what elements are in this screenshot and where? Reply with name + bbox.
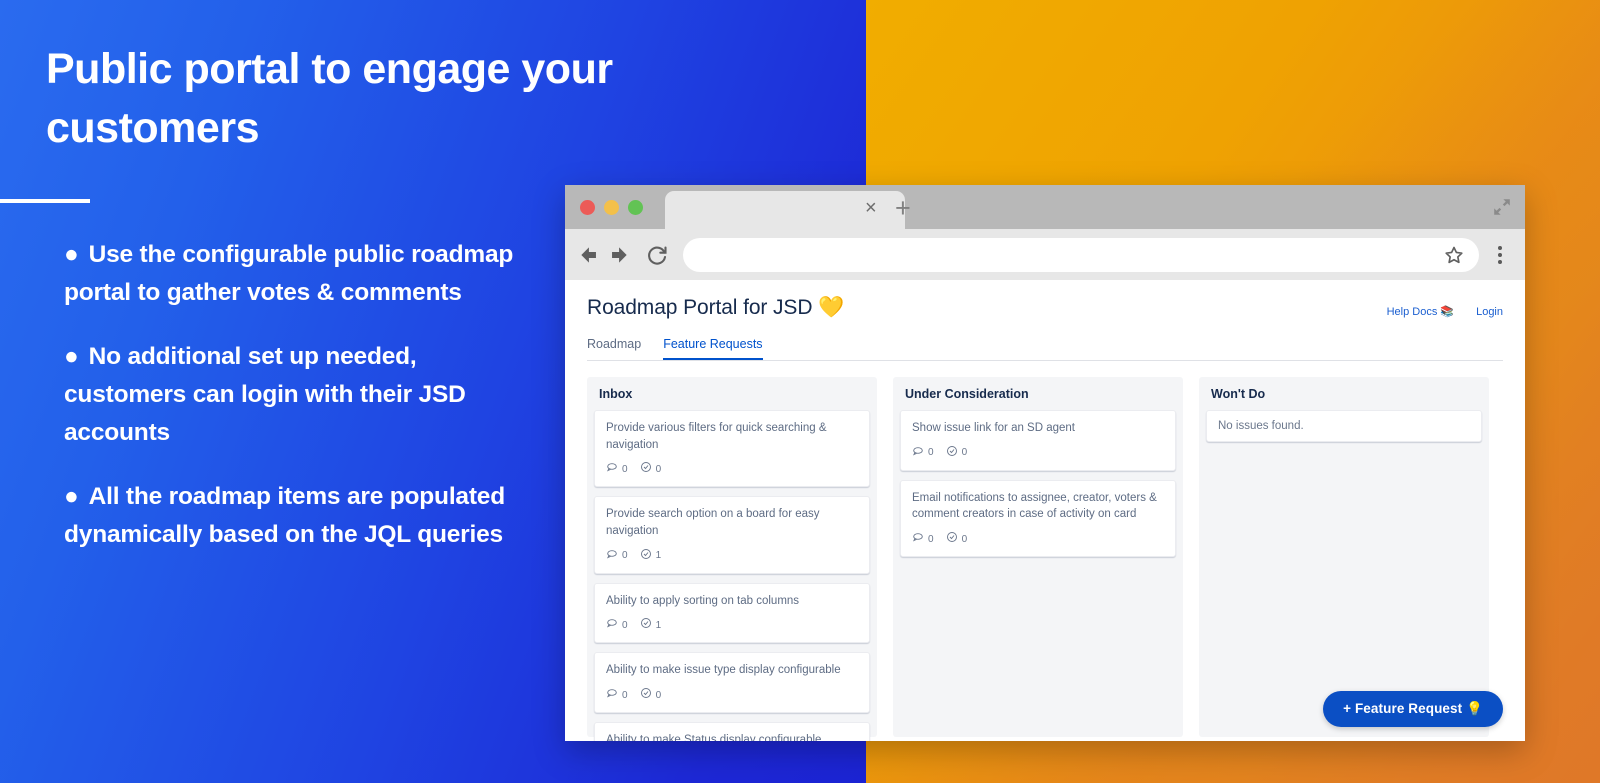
comment-icon bbox=[606, 616, 618, 634]
comment-count[interactable]: 0 bbox=[606, 460, 628, 478]
comment-count-value: 0 bbox=[622, 550, 628, 561]
card-meta: 0 1 bbox=[606, 616, 858, 634]
window-controls[interactable] bbox=[565, 200, 643, 215]
comment-icon bbox=[606, 686, 618, 704]
vote-check-icon bbox=[640, 460, 652, 478]
card-meta: 0 1 bbox=[606, 547, 858, 565]
roadmap-portal-app: Roadmap Portal for JSD 💛 Help Docs 📚 Log… bbox=[565, 280, 1525, 741]
vote-check-icon bbox=[946, 530, 958, 548]
minimize-window-icon[interactable] bbox=[604, 200, 619, 215]
vote-count[interactable]: 1 bbox=[640, 616, 662, 634]
bullet-text: No additional set up needed, customers c… bbox=[64, 343, 466, 446]
address-bar[interactable] bbox=[683, 238, 1479, 272]
vote-count[interactable]: 0 bbox=[640, 686, 662, 704]
add-feature-request-button[interactable]: + Feature Request 💡 bbox=[1323, 691, 1503, 727]
comment-count-value: 0 bbox=[622, 690, 628, 701]
bullet-text: Use the configurable public roadmap port… bbox=[64, 241, 513, 306]
card[interactable]: Email notifications to assignee, creator… bbox=[900, 480, 1176, 557]
vote-count[interactable]: 1 bbox=[640, 547, 662, 565]
slide-canvas: Public portal to engage your customers ●… bbox=[0, 0, 1600, 783]
app-header-actions: Help Docs 📚 Login bbox=[1387, 296, 1503, 318]
close-tab-icon[interactable]: × bbox=[865, 198, 877, 218]
tab-feature-requests[interactable]: Feature Requests bbox=[663, 337, 762, 360]
card-title: Ability to make issue type display confi… bbox=[606, 662, 858, 679]
comment-count[interactable]: 0 bbox=[606, 547, 628, 565]
bullet-dot-icon: ● bbox=[64, 241, 79, 268]
comment-icon bbox=[606, 460, 618, 478]
browser-menu-icon[interactable] bbox=[1487, 246, 1513, 264]
comment-icon bbox=[912, 530, 924, 548]
column-title: Inbox bbox=[594, 385, 870, 410]
forward-arrow-icon[interactable] bbox=[605, 242, 631, 268]
bullet-text: All the roadmap items are populated dyna… bbox=[64, 483, 505, 548]
list-item: ●Use the configurable public roadmap por… bbox=[64, 236, 534, 312]
card[interactable]: Show issue link for an SD agent 0 0 bbox=[900, 410, 1176, 471]
comment-count[interactable]: 0 bbox=[606, 616, 628, 634]
app-title: Roadmap Portal for JSD 💛 bbox=[587, 296, 844, 320]
board-column-under-consideration: Under Consideration Show issue link for … bbox=[893, 377, 1183, 737]
card[interactable]: Ability to make issue type display confi… bbox=[594, 652, 870, 713]
comment-count-value: 0 bbox=[928, 534, 934, 545]
reload-icon[interactable] bbox=[645, 243, 669, 267]
help-docs-link[interactable]: Help Docs 📚 bbox=[1387, 305, 1455, 318]
column-title: Won't Do bbox=[1206, 385, 1482, 410]
bullet-dot-icon: ● bbox=[64, 483, 79, 510]
card[interactable]: Ability to apply sorting on tab columns … bbox=[594, 583, 870, 644]
vote-count[interactable]: 0 bbox=[640, 460, 662, 478]
card-title: Provide search option on a board for eas… bbox=[606, 506, 858, 539]
card[interactable]: Provide various filters for quick search… bbox=[594, 410, 870, 487]
vote-check-icon bbox=[640, 686, 652, 704]
board-column-inbox: Inbox Provide various filters for quick … bbox=[587, 377, 877, 737]
browser-toolbar bbox=[565, 229, 1525, 280]
board-column-wont-do: Won't Do No issues found. bbox=[1199, 377, 1489, 737]
card-title: Provide various filters for quick search… bbox=[606, 420, 858, 453]
vote-count[interactable]: 0 bbox=[946, 530, 968, 548]
portal-tabs: Roadmap Feature Requests bbox=[587, 337, 1503, 361]
card-meta: 0 0 bbox=[606, 686, 858, 704]
vote-count-value: 1 bbox=[656, 620, 662, 631]
bookmark-star-icon[interactable] bbox=[1443, 244, 1465, 266]
back-arrow-icon[interactable] bbox=[577, 242, 603, 268]
comment-count-value: 0 bbox=[622, 464, 628, 475]
list-item: ●No additional set up needed, customers … bbox=[64, 338, 534, 452]
comment-count-value: 0 bbox=[928, 447, 934, 458]
card[interactable]: Provide search option on a board for eas… bbox=[594, 496, 870, 573]
comment-count-value: 0 bbox=[622, 620, 628, 631]
feature-request-board: Inbox Provide various filters for quick … bbox=[587, 377, 1503, 737]
login-link[interactable]: Login bbox=[1476, 306, 1503, 318]
card-title: Ability to make Status display configura… bbox=[606, 732, 858, 741]
close-window-icon[interactable] bbox=[580, 200, 595, 215]
vote-count-value: 0 bbox=[962, 447, 968, 458]
card-title: Show issue link for an SD agent bbox=[912, 420, 1164, 437]
vote-count-value: 0 bbox=[656, 464, 662, 475]
card[interactable]: Ability to make Status display configura… bbox=[594, 722, 870, 741]
vote-check-icon bbox=[640, 547, 652, 565]
card-title: Ability to apply sorting on tab columns bbox=[606, 593, 858, 610]
tab-roadmap[interactable]: Roadmap bbox=[587, 337, 641, 360]
new-tab-icon[interactable]: + bbox=[895, 195, 911, 222]
expand-window-icon[interactable] bbox=[1491, 196, 1513, 218]
title-divider bbox=[0, 199, 90, 203]
vote-count[interactable]: 0 bbox=[946, 444, 968, 462]
comment-count[interactable]: 0 bbox=[912, 530, 934, 548]
app-header: Roadmap Portal for JSD 💛 Help Docs 📚 Log… bbox=[587, 296, 1503, 320]
vote-count-value: 0 bbox=[656, 690, 662, 701]
browser-window: × + bbox=[565, 185, 1525, 741]
vote-count-value: 1 bbox=[656, 550, 662, 561]
card-meta: 0 0 bbox=[912, 444, 1164, 462]
card-title: Email notifications to assignee, creator… bbox=[912, 490, 1164, 523]
vote-count-value: 0 bbox=[962, 534, 968, 545]
feature-bullet-list: ●Use the configurable public roadmap por… bbox=[64, 236, 534, 580]
page-title: Public portal to engage your customers bbox=[46, 40, 686, 158]
vote-check-icon bbox=[640, 616, 652, 634]
vote-check-icon bbox=[946, 444, 958, 462]
list-item: ●All the roadmap items are populated dyn… bbox=[64, 478, 534, 554]
card-meta: 0 0 bbox=[606, 460, 858, 478]
browser-tab-strip: × + bbox=[565, 185, 1525, 229]
comment-count[interactable]: 0 bbox=[606, 686, 628, 704]
bullet-dot-icon: ● bbox=[64, 343, 79, 370]
maximize-window-icon[interactable] bbox=[628, 200, 643, 215]
column-title: Under Consideration bbox=[900, 385, 1176, 410]
comment-icon bbox=[912, 444, 924, 462]
card-meta: 0 0 bbox=[912, 530, 1164, 548]
empty-state-message: No issues found. bbox=[1206, 410, 1482, 442]
comment-icon bbox=[606, 547, 618, 565]
comment-count[interactable]: 0 bbox=[912, 444, 934, 462]
